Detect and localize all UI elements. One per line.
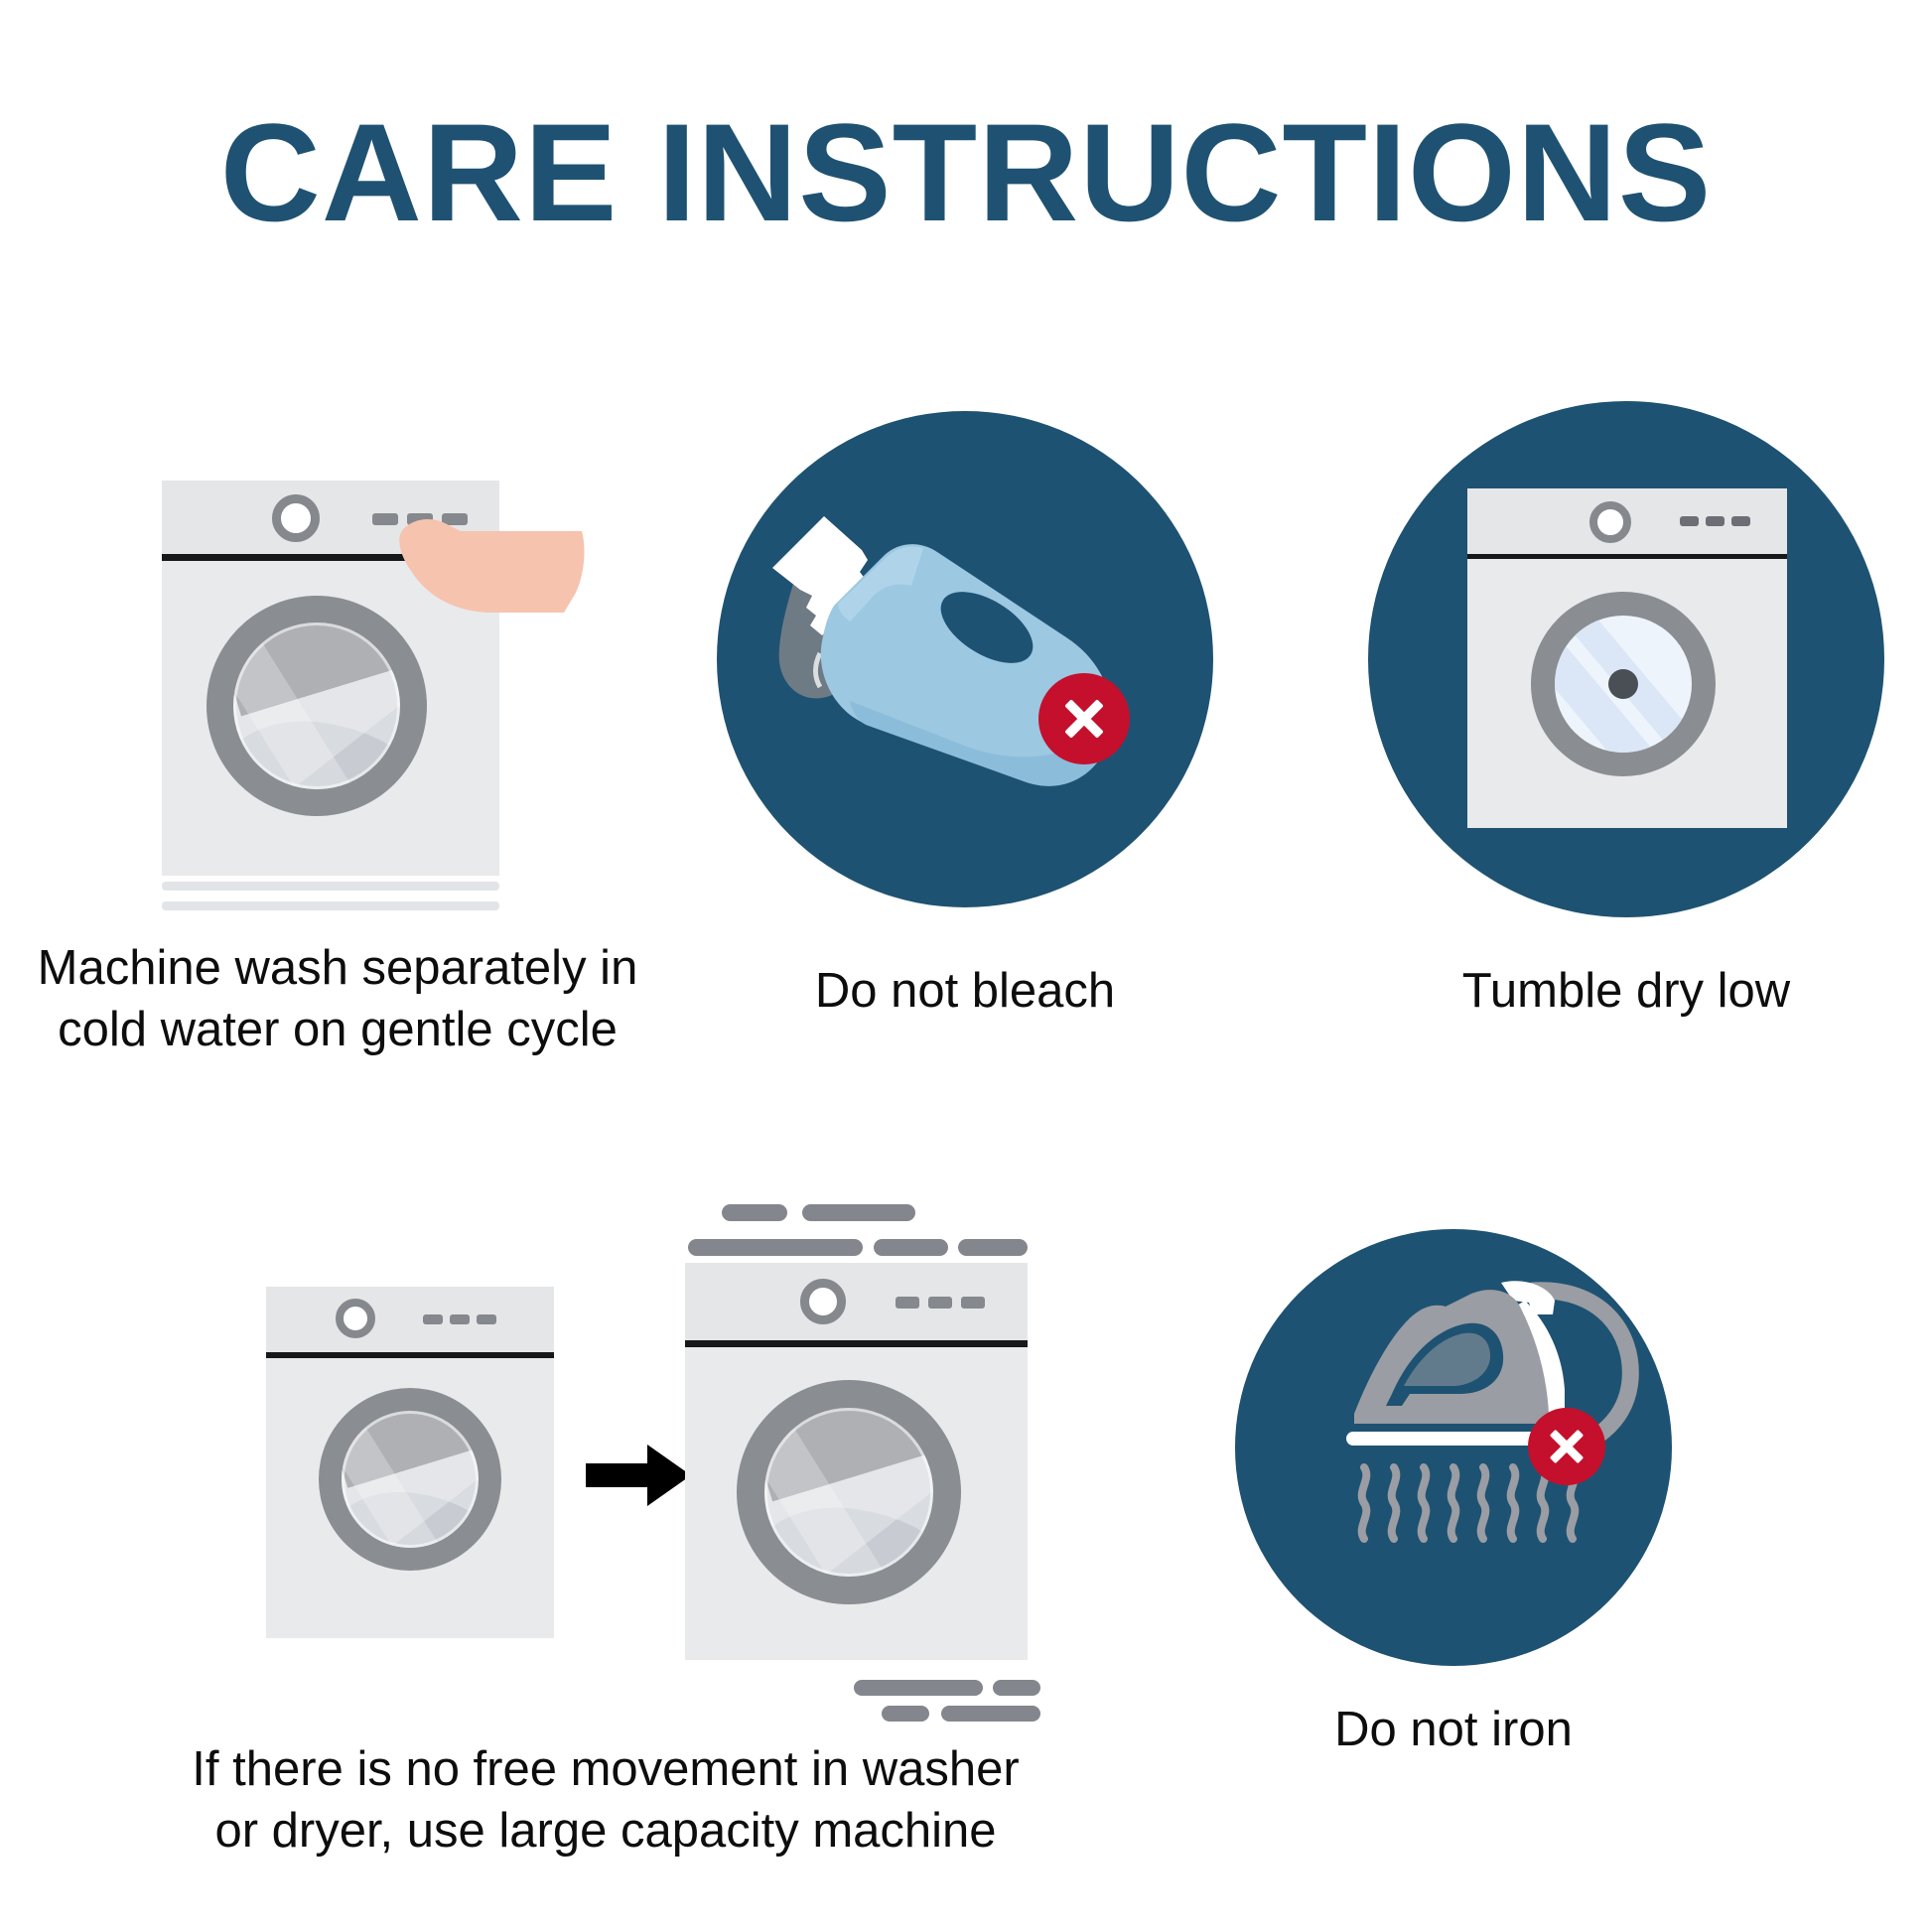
red-x-badge (1038, 673, 1130, 764)
large-washer-door-glass (764, 1408, 933, 1577)
large-washer-door-ring (737, 1380, 961, 1604)
motion-dash (958, 1239, 1028, 1256)
care-instructions-poster: CARE INSTRUCTIONS (0, 0, 1932, 1932)
large-washer-panel-divider (685, 1340, 1028, 1347)
pointing-hand-icon (397, 501, 586, 616)
motion-dash (993, 1680, 1040, 1696)
caption-line: Machine wash separately in (10, 938, 665, 1000)
caption-do-not-bleach: Do not bleach (717, 961, 1213, 1023)
dryer-door-glass (1555, 616, 1692, 753)
small-washer-button-1 (423, 1314, 443, 1324)
caption-line: or dryer, use large capacity machine (159, 1801, 1052, 1863)
dryer-panel-divider (1467, 554, 1787, 559)
caption-tumble-dry: Tumble dry low (1378, 961, 1874, 1023)
small-washer-control-panel (266, 1287, 554, 1352)
caption-line: Do not iron (1235, 1700, 1672, 1761)
caption-line: Tumble dry low (1378, 961, 1874, 1023)
page-title: CARE INSTRUCTIONS (0, 103, 1932, 242)
small-washer-button-2 (450, 1314, 470, 1324)
dryer-door-ring (1531, 592, 1716, 776)
large-washer-button-1 (896, 1297, 919, 1309)
motion-dash (688, 1239, 863, 1256)
dryer-button-1 (1680, 516, 1699, 526)
small-washer-icon (266, 1287, 554, 1638)
motion-dash (802, 1204, 915, 1221)
caption-line: cold water on gentle cycle (10, 1000, 665, 1061)
small-washer-door-ring (319, 1388, 501, 1571)
large-washer-icon (685, 1263, 1028, 1660)
large-washer-knob (800, 1279, 846, 1324)
caption-machine-wash: Machine wash separately in cold water on… (10, 938, 665, 1060)
arrow-right-icon (586, 1445, 691, 1506)
small-washer-button-3 (477, 1314, 496, 1324)
washer-door-glass (233, 622, 400, 789)
tumble-dryer-icon (1467, 488, 1787, 828)
washer-button-1 (372, 513, 398, 525)
washer-shadow-line-1 (162, 882, 499, 891)
motion-dash (882, 1706, 929, 1722)
motion-dash (874, 1239, 948, 1256)
small-washer-panel-divider (266, 1352, 554, 1358)
motion-dash (722, 1204, 787, 1221)
do-not-iron-circle-badge (1235, 1229, 1672, 1666)
motion-dash (941, 1706, 1040, 1722)
dryer-button-3 (1731, 516, 1750, 526)
caption-line: Do not bleach (717, 961, 1213, 1023)
bleach-bottle-icon (717, 411, 1213, 907)
dryer-knob (1589, 501, 1631, 543)
close-icon (1541, 1421, 1592, 1472)
large-washer-button-2 (928, 1297, 952, 1309)
large-washer-button-3 (961, 1297, 985, 1309)
washer-door-ring (207, 596, 427, 816)
caption-large-capacity: If there is no free movement in washer o… (159, 1739, 1052, 1862)
tumble-dry-circle-badge (1368, 401, 1884, 917)
washer-knob (272, 494, 320, 542)
caption-line: If there is no free movement in washer (159, 1739, 1052, 1801)
iron-steam-icon (1235, 1229, 1672, 1666)
caption-do-not-iron: Do not iron (1235, 1700, 1672, 1761)
washer-shadow-line-2 (162, 901, 499, 910)
close-icon (1054, 689, 1114, 749)
red-x-badge (1528, 1408, 1605, 1485)
motion-dash (854, 1680, 983, 1696)
bleach-circle-badge (717, 411, 1213, 907)
small-washer-door-glass (342, 1411, 479, 1548)
dryer-center-dot (1608, 669, 1638, 699)
dryer-button-2 (1706, 516, 1725, 526)
small-washer-knob (336, 1299, 375, 1338)
